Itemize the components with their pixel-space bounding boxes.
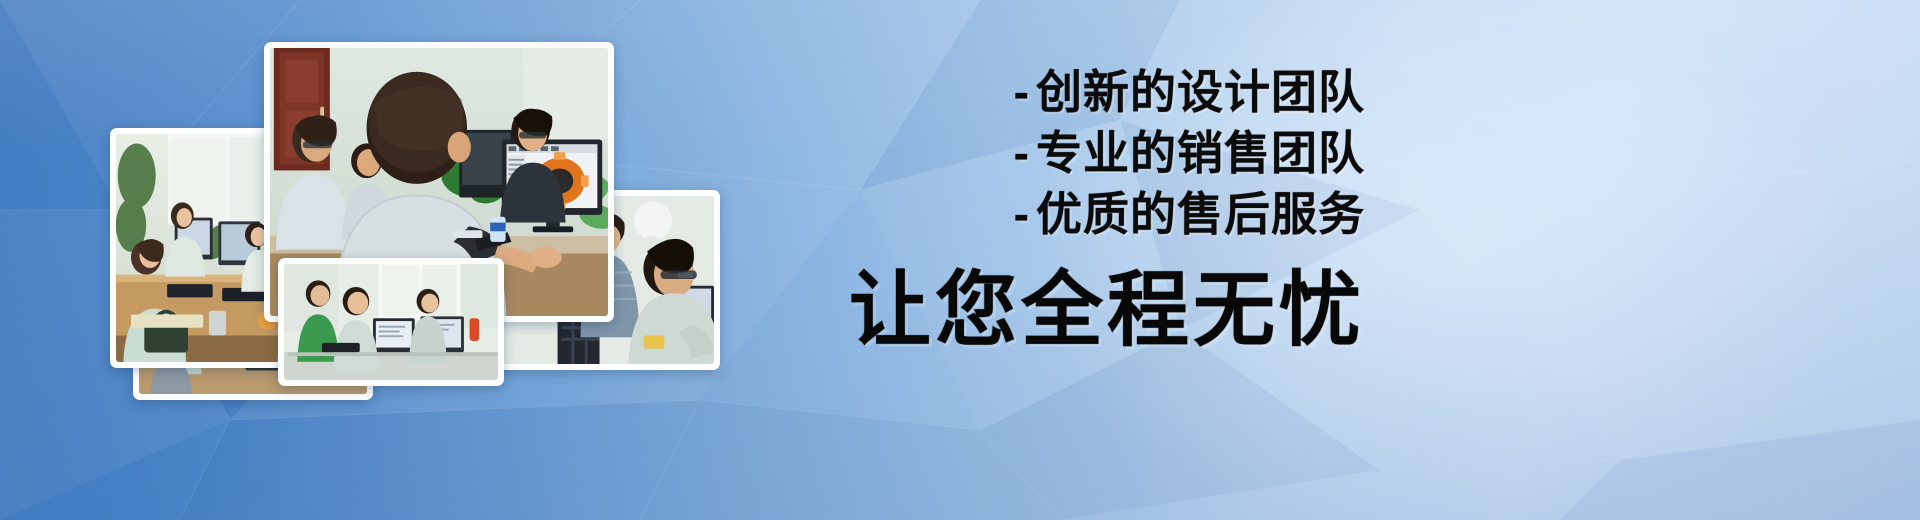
bullet-marker: - [1014, 184, 1030, 245]
photo-collage [0, 0, 820, 520]
banner-headline: 让您全程无忧 [845, 268, 1365, 354]
bullet-list: -创新的设计团队 -专业的销售团队 -优质的售后服务 [845, 62, 1365, 246]
promo-banner: -创新的设计团队 -专业的销售团队 -优质的售后服务 让您全程无忧 [0, 0, 1920, 520]
collage-photo-staff-at-monitors [278, 258, 504, 386]
bullet-marker: - [1014, 123, 1030, 184]
bullet-item-3: -优质的售后服务 [845, 184, 1365, 245]
bullet-text: 创新的设计团队 [1036, 66, 1365, 118]
bullet-item-1: -创新的设计团队 [845, 62, 1365, 123]
bullet-text: 专业的销售团队 [1036, 127, 1365, 179]
bullet-marker: - [1014, 62, 1030, 123]
bullet-text: 优质的售后服务 [1036, 188, 1365, 240]
bullet-item-2: -专业的销售团队 [845, 123, 1365, 184]
banner-copy: -创新的设计团队 -专业的销售团队 -优质的售后服务 让您全程无忧 [845, 62, 1365, 354]
